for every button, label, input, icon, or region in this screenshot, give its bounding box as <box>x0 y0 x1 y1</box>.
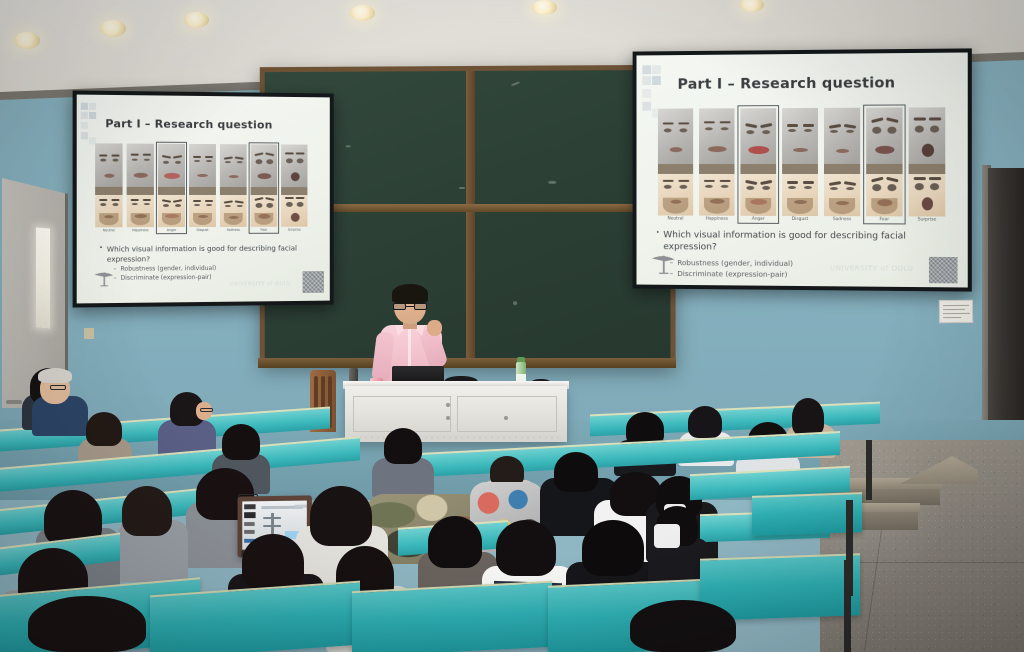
expression-label: Disgust <box>197 228 209 232</box>
ceiling-light <box>100 20 126 37</box>
podium-knob[interactable] <box>446 416 450 420</box>
slide-bullet-main: • Which visual information is good for d… <box>99 243 318 264</box>
expression-photo <box>127 144 154 187</box>
expression-cell: Fear <box>251 144 278 232</box>
expression-label: Disgust <box>792 217 808 222</box>
student-hair <box>428 516 482 568</box>
student-glasses <box>200 408 213 412</box>
expression-drawing <box>866 164 902 216</box>
expression-label: Neutral <box>668 217 684 222</box>
expression-photo <box>782 108 818 164</box>
expression-grid: Neutral <box>658 107 945 222</box>
chalk-mark <box>513 301 517 305</box>
wall-switch-plate[interactable] <box>84 328 94 339</box>
presenter-hair <box>392 284 428 304</box>
student-hair <box>554 452 598 492</box>
student-hair <box>792 398 824 436</box>
sub-bullet-text: Robustness (gender, individual) <box>121 265 217 273</box>
expression-drawing <box>740 164 776 216</box>
expression-drawing <box>699 164 734 216</box>
student-hair <box>122 486 172 536</box>
slide-footer: UNIVERSITY of OULU <box>830 264 914 273</box>
expression-label: Fear <box>880 217 890 222</box>
presenter-hand-gesture <box>427 320 442 336</box>
slide-sub-bullet: – Robustness (gender, individual) <box>113 265 318 274</box>
bench-front-mid2 <box>352 581 552 652</box>
expression-photo <box>658 109 693 165</box>
slide-bullets: • Which visual information is good for d… <box>99 243 318 282</box>
presenter-glasses <box>393 303 427 310</box>
expression-cell: Disgust <box>189 144 216 232</box>
expression-cell: Disgust <box>782 108 818 222</box>
expression-cell: Happiness <box>127 144 154 233</box>
expression-label: Fear <box>260 228 267 232</box>
chalk-mark <box>548 181 556 184</box>
expression-cell: Anger <box>158 144 185 232</box>
expression-photo <box>220 144 247 187</box>
student-hair <box>688 406 722 438</box>
ceiling-light <box>350 5 375 21</box>
student-hair <box>242 534 304 590</box>
door-handle[interactable] <box>6 400 22 404</box>
university-logo <box>303 271 324 293</box>
bird-logo-icon <box>93 269 115 291</box>
expression-drawing <box>281 187 307 227</box>
expression-photo <box>824 108 860 164</box>
student-hair <box>630 600 736 652</box>
student <box>28 596 148 652</box>
sub-bullet-text: Discriminate (expression-pair) <box>121 274 212 282</box>
expression-photo <box>699 108 734 164</box>
slide-footer: UNIVERSITY of OULU <box>230 281 291 288</box>
expression-photo <box>281 144 307 187</box>
student-hair <box>86 412 122 446</box>
expression-photo <box>251 144 278 187</box>
expression-label: Anger <box>752 217 765 222</box>
student-hair <box>496 520 556 576</box>
bullet-text: Which visual information is good for des… <box>663 229 955 256</box>
slide-bullet-main: • Which visual information is good for d… <box>656 229 955 256</box>
chalkboard-divider-vertical <box>466 71 475 361</box>
chalk-mark <box>459 187 465 189</box>
bullet-glyph: • <box>99 245 103 265</box>
expression-drawing <box>127 187 154 227</box>
podium-panel <box>457 396 557 432</box>
student-hair <box>28 596 146 652</box>
expression-cell: Happiness <box>699 108 734 221</box>
student <box>630 600 738 652</box>
expression-label: Happiness <box>705 217 728 222</box>
student-hair <box>384 428 422 464</box>
slide-title: Part I – Research question <box>105 117 272 131</box>
university-logo <box>929 257 958 284</box>
expression-cell: Fear <box>866 108 902 223</box>
expression-photo <box>158 144 185 187</box>
expression-drawing <box>909 164 946 217</box>
expression-photo <box>95 143 122 187</box>
bench-support-leg <box>866 440 872 500</box>
expression-cell: Surprise <box>281 144 307 231</box>
ceiling-light <box>532 0 557 15</box>
expression-label: Anger <box>167 228 177 232</box>
expression-drawing <box>158 187 185 227</box>
expression-label: Surprise <box>918 217 937 222</box>
bench-support-leg <box>844 560 851 652</box>
expression-cell: Sadness <box>824 108 860 223</box>
student-hair <box>582 520 644 576</box>
expression-label: Neutral <box>103 228 115 232</box>
podium-knob[interactable] <box>446 403 450 407</box>
student <box>158 392 216 454</box>
chalkboard-tray <box>258 358 676 368</box>
lecture-hall-photo: Part I – Research question <box>0 0 1024 652</box>
left-projection-screen: Part I – Research question <box>73 90 334 307</box>
expression-cell: Sadness <box>220 144 247 232</box>
expression-label: Sadness <box>227 228 240 232</box>
expression-drawing <box>824 164 860 216</box>
podium-panel <box>353 396 451 432</box>
expression-cell: Neutral <box>658 109 693 222</box>
expression-cell: Neutral <box>95 143 122 232</box>
door-window-strip <box>36 227 50 328</box>
student-mask <box>654 524 680 548</box>
expression-photo <box>189 144 216 187</box>
expression-label: Sadness <box>833 217 851 222</box>
expression-label: Happiness <box>132 228 149 232</box>
expression-photo <box>740 108 776 164</box>
slide-title: Part I – Research question <box>677 75 895 92</box>
chalk-mark <box>346 145 351 147</box>
expression-drawing <box>658 164 693 216</box>
student-hair <box>222 424 260 460</box>
ceiling-light <box>184 12 209 28</box>
sub-bullet-text: Discriminate (expression-pair) <box>677 269 787 279</box>
student-hair <box>38 368 72 383</box>
right-projection-screen: Part I – Research question <box>633 48 972 291</box>
expression-drawing <box>95 187 122 227</box>
expression-drawing <box>189 187 216 227</box>
sub-bullet-text: Robustness (gender, individual) <box>677 258 793 268</box>
student <box>118 486 188 582</box>
ceiling-light <box>14 32 40 49</box>
expression-grid: Neutral <box>95 143 307 232</box>
expression-label: Surprise <box>288 228 301 232</box>
wall-notice-card <box>939 300 973 323</box>
bullet-text: Which visual information is good for des… <box>107 243 318 264</box>
expression-drawing <box>782 164 818 216</box>
expression-drawing <box>251 187 278 227</box>
slide-right: Part I – Research question <box>637 52 968 287</box>
bird-logo-icon <box>650 251 677 279</box>
podium-knob[interactable] <box>504 416 508 420</box>
expression-cell: Surprise <box>909 107 946 222</box>
slide-left: Part I – Research question <box>77 95 330 304</box>
expression-photo <box>866 108 902 164</box>
expression-drawing <box>220 187 247 227</box>
student-glasses <box>50 385 66 390</box>
expression-cell: Anger <box>740 108 776 222</box>
expression-photo <box>909 107 946 164</box>
chalk-mark <box>511 81 520 86</box>
